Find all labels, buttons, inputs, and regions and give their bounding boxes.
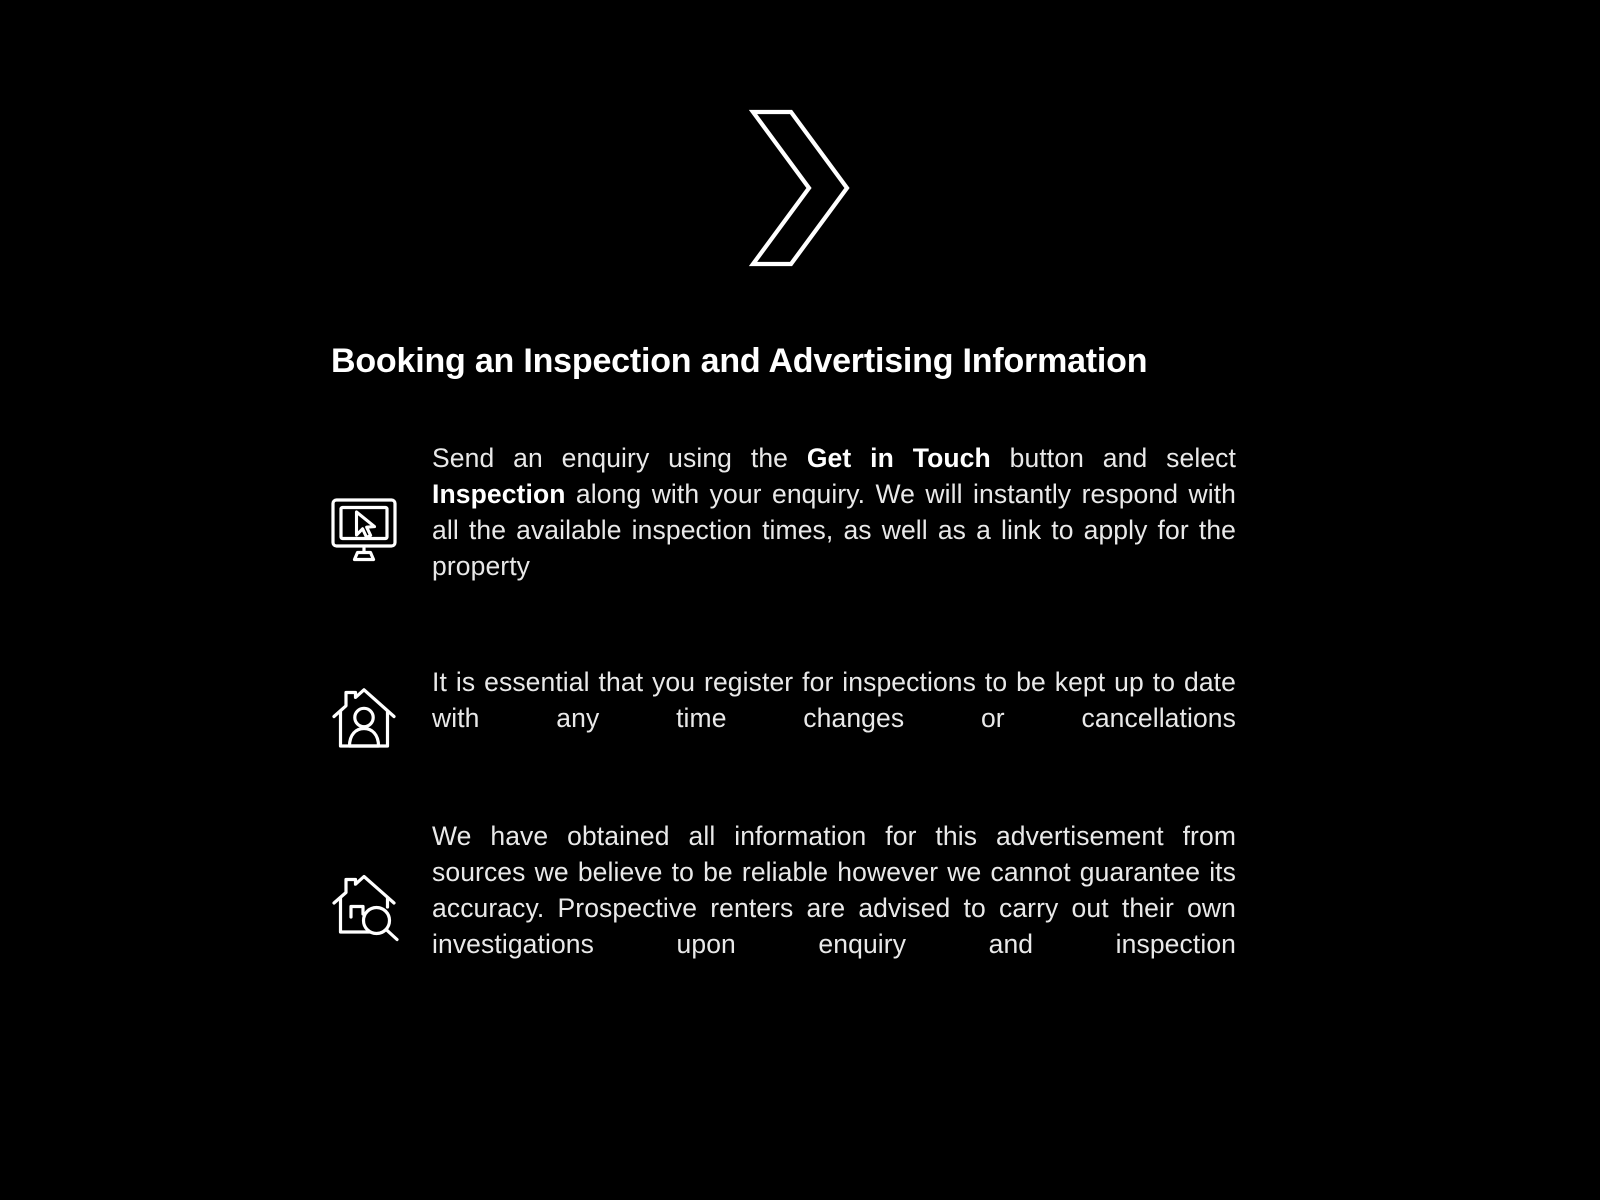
- list-item-text: It is essential that you register for in…: [432, 664, 1236, 772]
- chevron-logo-icon: [747, 108, 853, 268]
- list-item: It is essential that you register for in…: [330, 664, 1236, 772]
- house-person-icon: [330, 685, 432, 751]
- list-item-text: Send an enquiry using the Get in Touch b…: [432, 440, 1236, 620]
- list-item: Send an enquiry using the Get in Touch b…: [330, 440, 1236, 620]
- info-list: Send an enquiry using the Get in Touch b…: [0, 440, 1600, 998]
- list-item-text: We have obtained all information for thi…: [432, 818, 1236, 998]
- logo-container: [0, 108, 1600, 268]
- monitor-cursor-icon: [330, 497, 432, 563]
- page-title: Booking an Inspection and Advertising In…: [331, 339, 1241, 383]
- list-item: We have obtained all information for thi…: [330, 818, 1236, 998]
- house-magnifier-icon: [330, 873, 432, 943]
- slide-root: Booking an Inspection and Advertising In…: [0, 0, 1600, 1200]
